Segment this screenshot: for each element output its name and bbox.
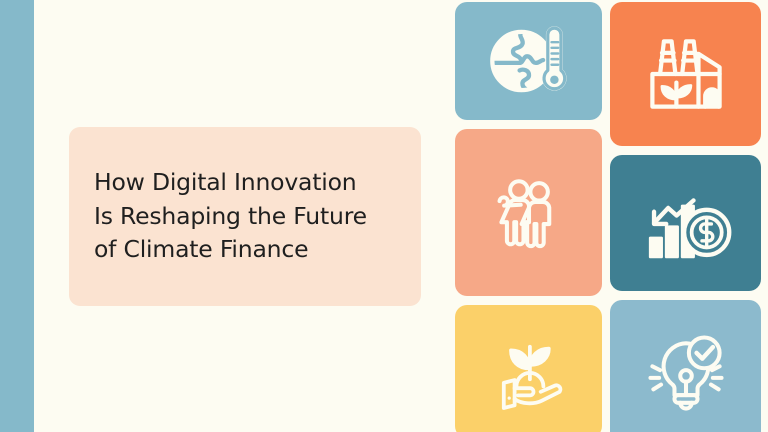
tile-climate-globe[interactable] (455, 2, 602, 120)
left-accent-stripe (0, 0, 34, 432)
factory-leaf-icon (638, 26, 734, 122)
bar-chart-dollar-coin-icon (639, 176, 733, 270)
tile-column-right (610, 2, 761, 432)
tile-community-people[interactable] (455, 129, 602, 296)
hand-holding-seedling-icon (484, 327, 574, 417)
globe-thermometer-icon (482, 14, 576, 108)
presentation-slide: How Digital Innovation Is Reshaping the … (0, 0, 768, 432)
icon-tile-grid (455, 2, 768, 432)
tile-innovation-idea[interactable] (610, 300, 761, 432)
title-card: How Digital Innovation Is Reshaping the … (69, 127, 421, 306)
two-people-icon (483, 167, 575, 259)
tile-column-left (455, 2, 602, 432)
slide-title: How Digital Innovation Is Reshaping the … (69, 166, 391, 266)
lightbulb-check-icon (638, 326, 734, 422)
tile-sustainable-growth[interactable] (455, 305, 602, 432)
tile-green-factory[interactable] (610, 2, 761, 146)
tile-finance-growth[interactable] (610, 155, 761, 291)
